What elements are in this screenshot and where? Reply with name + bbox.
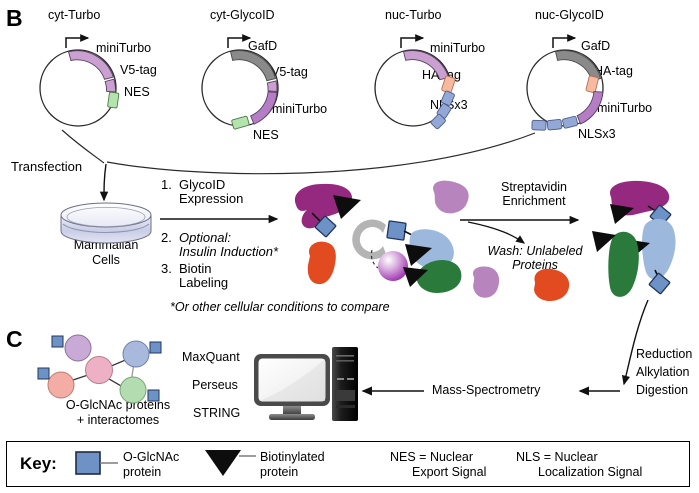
gafd-lectin-icon [352, 220, 386, 260]
feature-arc-gafd-p4 [556, 51, 601, 81]
protein-light-purple-unlabeled [433, 181, 469, 214]
feature-box-nes-p2 [231, 116, 249, 130]
protein-green-enriched [608, 232, 639, 297]
interaction-network [38, 335, 161, 403]
feature-box-nls-3-p4 [532, 120, 546, 130]
network-square-1 [52, 336, 63, 347]
feature-box-nes-p1 [107, 92, 118, 108]
figure-graphics [0, 0, 699, 493]
protein-scene-enriched [592, 181, 676, 297]
network-square-2 [38, 368, 49, 379]
washed-proteins [473, 266, 569, 301]
arrow-enriched-to-prep [624, 300, 648, 384]
curve-plasmids-to-transfection [107, 133, 535, 174]
network-square-4 [148, 390, 159, 401]
figure-root: B C cyt-Turbo cyt-GlycoID nuc-Turbo nuc-… [0, 0, 699, 493]
network-node-pink [86, 357, 113, 384]
plasmid-cyt-turbo [40, 38, 119, 126]
feature-arc-miniturbo-p1 [69, 51, 114, 80]
protein-scene-labeling [295, 181, 469, 293]
miniturbo-sphere-icon [378, 251, 408, 281]
curve-plasmid1-to-transfection [62, 130, 104, 163]
wash-arrow [468, 222, 524, 243]
protein-blue-enriched [642, 219, 675, 280]
protein-orange-unlabeled [308, 242, 336, 284]
plasmid-nuc-glycoid [527, 38, 603, 130]
feature-arc-miniturbo-p3 [404, 51, 449, 80]
desktop-computer-icon [254, 347, 358, 421]
feature-arc-v5tag-p2 [267, 81, 277, 92]
feature-arc-v5tag-p1 [105, 79, 115, 92]
key-biotin-triangle-icon [205, 450, 241, 476]
network-node-purple [65, 335, 91, 361]
petri-dish-icon [61, 203, 151, 243]
feature-box-hatag-p4 [586, 76, 599, 93]
network-node-salmon [48, 372, 74, 398]
network-node-blue [123, 341, 149, 367]
feature-arc-miniturbo-p4 [577, 92, 603, 124]
network-node-green [120, 377, 146, 403]
feature-box-nls-1-p4 [562, 116, 578, 129]
protein-orange-washed [534, 269, 569, 301]
feature-arc-gafd-p2 [231, 51, 276, 81]
transfection-arrow [104, 164, 106, 200]
protein-light-purple-washed [473, 266, 499, 297]
feature-box-nls-2-p4 [547, 119, 562, 130]
plasmid-cyt-glycoid [202, 38, 278, 129]
o-glcnac-square-bound [387, 221, 406, 240]
key-o-glcnac-square-icon [76, 452, 100, 474]
network-square-3 [150, 342, 161, 353]
plasmid-nuc-turbo [375, 38, 456, 129]
biotin-triangle-magenta [333, 195, 361, 219]
